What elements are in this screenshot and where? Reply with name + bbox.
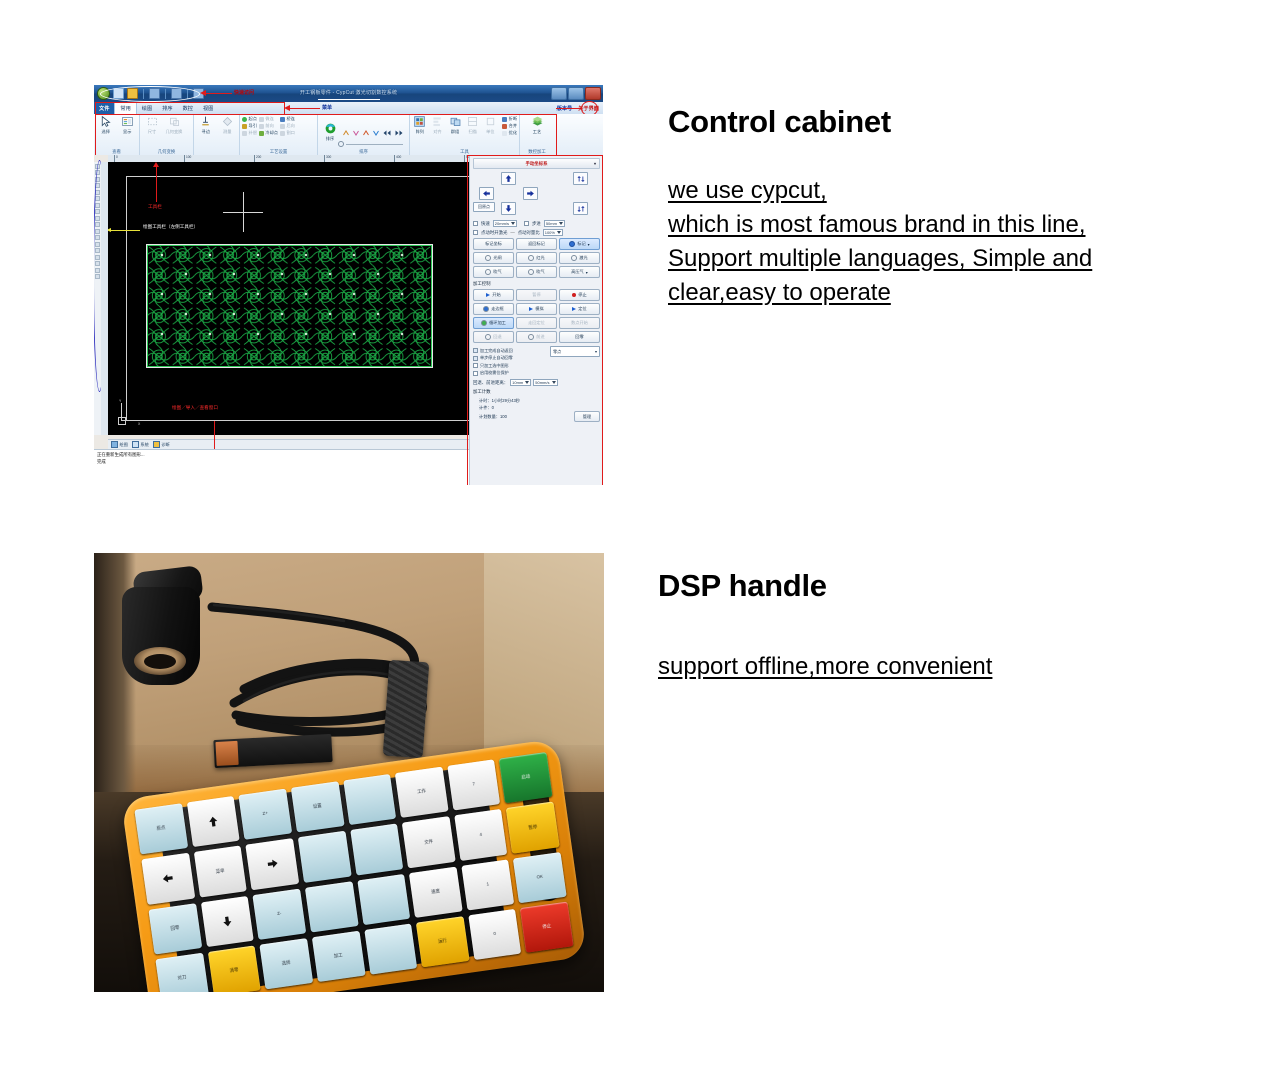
key-jog-left[interactable] — [141, 853, 194, 904]
sort-globe-icon — [324, 122, 337, 135]
retreat-speed-value[interactable]: 50mm/s — [533, 379, 557, 386]
mark-coordinate-button[interactable]: 标记坐标 — [473, 238, 514, 250]
position-button[interactable]: 定位 — [559, 303, 600, 315]
sort-extra-icons[interactable] — [342, 127, 404, 137]
ribbon-small-col-1[interactable]: 起点 导引 补偿 — [242, 115, 257, 136]
tool-node-icon[interactable] — [95, 268, 100, 273]
chevron-down-icon[interactable]: ▾ — [586, 270, 588, 275]
ribbon-button-label: 寻边 — [202, 129, 210, 135]
key-machining[interactable]: 加工 — [312, 931, 365, 982]
stat-value: 1小时29分43秒 — [492, 398, 520, 403]
jog-options-row-2[interactable]: 点动时开激光 — 点动对量比 100% — [473, 229, 600, 236]
sort-asc-icon[interactable] — [342, 129, 350, 137]
key-select[interactable]: 选择 — [260, 938, 313, 989]
key-4[interactable]: 4 — [454, 809, 507, 860]
option-label: 只加工选中图形 — [480, 363, 509, 369]
display-list-icon — [121, 115, 134, 128]
tool-rotate-icon[interactable] — [95, 229, 100, 234]
lace-pattern — [147, 245, 432, 367]
scan-icon — [466, 115, 479, 128]
ruler-tick-label: 0 — [116, 155, 118, 159]
ruler-tick-label: 300 — [326, 155, 331, 159]
dsp-handle-photo: 原点 Z+ 设置 工作 7 启动 菜单 文件 4 暂停 回零 — [94, 553, 604, 992]
annotation-label-toolbar: 工具栏 — [148, 204, 162, 210]
ribbon-small-col-2[interactable]: 微连 前向 冷却点 — [259, 115, 278, 136]
system-icon — [132, 441, 139, 448]
option-auto-return[interactable]: 加工完成自动返回 — [473, 348, 546, 354]
z-axis-up-icon — [576, 174, 586, 184]
tool-mirror-icon[interactable] — [95, 222, 100, 227]
annotation-arrow-quick-access — [206, 93, 232, 94]
axis-label-y: Y — [119, 399, 121, 403]
tool-text-icon[interactable] — [95, 203, 100, 208]
mark-button-grid[interactable]: 标记坐标 返回标记 标记▾ 光闸 红光 激光 吹气 吹气 高压气▾ — [473, 238, 600, 278]
tool-scale-icon[interactable] — [95, 235, 100, 240]
button-label: 定位 — [578, 306, 586, 312]
ribbon-button-startpoint[interactable]: 起点 — [242, 116, 257, 122]
ribbon-small-col-tools[interactable]: 折断 合并 优化 — [500, 115, 517, 136]
title-underline — [318, 99, 380, 100]
blow2-button[interactable]: 吹气 — [516, 266, 557, 278]
chevron-down-icon[interactable]: ▾ — [595, 349, 597, 354]
fast-value[interactable]: 20mm/s — [493, 220, 517, 227]
craft-layers-icon — [531, 115, 544, 128]
ribbon-group-seek[interactable]: 寻边 测量 — [194, 114, 240, 155]
page-title-control-cabinet: Control cabinet — [668, 104, 1268, 140]
body-line: we use cypcut, — [668, 174, 1268, 208]
annotation-arrowhead — [200, 90, 206, 96]
arrow-up-icon — [504, 174, 513, 183]
button-label: 数点开始 — [571, 320, 588, 326]
button-label: 回原点 — [478, 204, 490, 210]
window-title-bar: 开工钢板零件 - CypCut 激光切割数控系统 — [94, 85, 603, 102]
ribbon-button-microjoint[interactable]: 微连 — [259, 116, 278, 122]
manage-button[interactable]: 管理 — [574, 411, 600, 422]
connector-bore — [144, 654, 176, 669]
window-controls[interactable] — [551, 87, 601, 100]
ribbon-button-array[interactable]: 阵列 — [412, 115, 428, 135]
ribbon-tab-draw[interactable]: 绘图 — [137, 102, 157, 114]
step-value[interactable]: 50mm — [544, 220, 565, 227]
axis-label-x: X — [138, 422, 140, 426]
button-label: 标记 — [577, 241, 585, 247]
ribbon-button-scan[interactable]: 扫描 — [465, 115, 481, 135]
tool-fillet-icon[interactable] — [95, 248, 100, 253]
key-clear-zero[interactable]: 清零 — [207, 945, 260, 992]
machining-options-area[interactable]: 加工完成自动返回 单步停止自动回零 只加工选中图形 启用校需位保护 零点 ▾ — [473, 346, 600, 376]
sort-slider[interactable] — [338, 142, 405, 146]
sort-group-icon[interactable] — [362, 129, 370, 137]
z-axis-down-icon — [576, 204, 586, 214]
tool-line-icon[interactable] — [95, 170, 100, 175]
chevron-down-icon[interactable]: ▾ — [588, 242, 590, 247]
ribbon-button-measure[interactable]: 测量 — [218, 115, 238, 135]
pause-button[interactable]: 暂停 — [516, 289, 557, 301]
page-title-dsp-handle: DSP handle — [658, 568, 1258, 604]
ribbon-button-craft[interactable]: 工艺 — [527, 115, 547, 135]
ribbon-group-craft[interactable]: 工艺 数控加工 — [520, 114, 554, 155]
ribbon-tab-home[interactable]: 常用 — [114, 102, 136, 114]
zero-point-select[interactable]: 零点 ▾ — [550, 346, 600, 357]
seek-edge-icon — [199, 115, 212, 128]
tool-pan-icon[interactable] — [95, 261, 100, 266]
ribbon-button-coolpoint[interactable]: 冷却点 — [259, 130, 278, 136]
dimension-icon — [146, 115, 159, 128]
key-z-plus[interactable]: Z+ — [239, 789, 292, 840]
tab-label: 系统 — [140, 442, 148, 448]
jog-up-button[interactable] — [501, 172, 516, 185]
counter-label: 加工计数 — [473, 389, 600, 395]
sort-desc-icon[interactable] — [352, 129, 360, 137]
retreat-distance-row[interactable]: 回退、前进距离： 10mm 50mm/s — [473, 379, 600, 386]
axis-origin-marker: Y X — [118, 403, 144, 425]
key-home[interactable]: 回零 — [148, 903, 201, 954]
measure-icon — [221, 115, 234, 128]
jog-z-up-button[interactable] — [573, 172, 588, 185]
stat-row: 计时：1小时29分43秒 — [473, 398, 600, 405]
control-panel[interactable]: 手动坐标系 ▾ 回原点 — [469, 155, 603, 485]
usb-contact — [215, 741, 238, 766]
annotation-arrowhead — [153, 162, 159, 167]
velcro-strap — [383, 660, 430, 759]
option-selected-only[interactable]: 只加工选中图形 — [473, 363, 546, 369]
key-z-minus[interactable]: Z- — [253, 888, 306, 939]
red-light-button[interactable]: 红光 — [516, 252, 557, 264]
jog-down-button[interactable] — [501, 202, 516, 215]
button-label: 吹气 — [493, 269, 501, 275]
label: 导引 — [249, 123, 257, 129]
key-work[interactable]: 工作 — [395, 767, 448, 818]
maximize-button[interactable] — [568, 87, 584, 100]
key-origin[interactable]: 原点 — [134, 803, 187, 854]
ribbon-button-label: 选择 — [102, 129, 110, 135]
stat-value: 0 — [492, 405, 494, 410]
arrow-left-icon — [482, 189, 491, 198]
key-tool-setting[interactable]: 对刀 — [155, 953, 208, 992]
annotation-label-drawing-area: 绘图／导入／查看窗口 — [172, 405, 218, 411]
loop-machining-button[interactable]: 循环加工 — [473, 317, 514, 329]
stat-label: 计划数量： — [473, 414, 500, 419]
key-menu[interactable]: 菜单 — [193, 846, 246, 897]
arrow-up-icon — [186, 796, 239, 847]
jog-options-row-1[interactable]: 快速 20mm/s 步进 50mm — [473, 220, 600, 227]
ribbon-button-kerf[interactable]: 割口 — [280, 130, 295, 136]
sort-reverse-icon[interactable] — [372, 129, 380, 137]
ribbon-button-transform[interactable]: 几何变换 — [164, 115, 184, 135]
advance-button[interactable]: 前进 — [516, 331, 557, 343]
ribbon-group-label: 几何变换 — [142, 148, 191, 155]
ribbon-button-bridge[interactable]: 桥连 — [280, 116, 295, 122]
key-start[interactable]: 启动 — [499, 752, 552, 803]
ribbon-group-label: 排序 — [320, 148, 407, 155]
label: 割口 — [286, 130, 294, 136]
sort-last-icon[interactable] — [394, 129, 404, 137]
button-label: 开始 — [492, 292, 500, 298]
control-cabinet-screenshot: 开工钢板零件 - CypCut 激光切割数控系统 快速访问 文件 常用 绘图 排… — [94, 85, 603, 485]
ribbon-button-backward[interactable]: 后向 — [280, 123, 295, 129]
tab-system[interactable]: 系统 — [132, 441, 149, 448]
annotation-arrowhead — [284, 105, 290, 111]
key-blank-6[interactable] — [364, 923, 417, 974]
blow-button[interactable]: 吹气 — [473, 266, 514, 278]
button-label: 循环加工 — [489, 320, 506, 326]
key-ok[interactable]: OK — [513, 852, 566, 903]
annotation-arrow-about — [556, 108, 580, 109]
button-label: 光闸 — [493, 255, 501, 261]
tab-label: 诊断 — [161, 442, 169, 448]
ribbon-group-label — [196, 148, 237, 155]
ribbon-button-group[interactable]: 群组 — [447, 115, 463, 135]
ribbon-tab-strip[interactable]: 文件 常用 绘图 排序 数控 视图 版本号 关于界面 — [94, 102, 603, 114]
annotation-text: 绘图工具栏（左侧工具栏） — [143, 224, 198, 229]
pendant-connector — [120, 565, 212, 689]
key-blank-5[interactable] — [357, 873, 410, 924]
about-label: 关于界面 — [578, 105, 599, 112]
ribbon-button-label: 几何变换 — [166, 129, 183, 135]
option-protection[interactable]: 启用校需位保护 — [473, 370, 546, 376]
label: 后向 — [286, 123, 294, 129]
key-blank-3[interactable] — [350, 824, 403, 875]
label: 微连 — [265, 116, 273, 122]
ribbon-group-label: 工具 — [412, 148, 517, 155]
label: 冷却点 — [265, 130, 278, 136]
ribbon-button-compensate[interactable]: 补偿 — [242, 130, 257, 136]
ribbon-button-label: 测量 — [223, 129, 231, 135]
high-pressure-gas-button[interactable]: 高压气▾ — [559, 266, 600, 278]
slide-canvas: 开工钢板零件 - CypCut 激光切割数控系统 快速访问 文件 常用 绘图 排… — [0, 0, 1280, 1077]
stat-label: 计时： — [473, 398, 492, 403]
start-from-point-button[interactable]: 数点开始 — [559, 317, 600, 329]
machining-button-grid[interactable]: 开始 暂停 停止 走边框 模拟 定位 循环加工 走回定位 数点开始 回退 前进 … — [473, 289, 600, 343]
label: 桥连 — [286, 116, 294, 122]
body-line: which is most famous brand in this line, — [668, 208, 1268, 242]
step-label: 步进 — [532, 221, 541, 227]
ribbon-button-dimension[interactable]: 尺寸 — [142, 115, 162, 135]
ruler-tick-label: 200 — [256, 155, 261, 159]
ribbon-button-label: 排序 — [326, 136, 334, 142]
ribbon-group-geometry[interactable]: 尺寸 几何变换 几何变换 — [140, 114, 194, 155]
arrow-right-icon — [246, 838, 299, 889]
ribbon-button-label: 群组 — [451, 129, 459, 135]
ribbon-button-seek-edge[interactable]: 寻边 — [196, 115, 216, 135]
jog-power-value[interactable]: 100% — [543, 229, 563, 236]
key-jog-up[interactable] — [186, 796, 239, 847]
tool-zoom-icon[interactable] — [95, 255, 100, 260]
ribbon-button-align[interactable]: 对齐 — [430, 115, 446, 135]
annotation-label-quick-access: 快速访问 — [234, 89, 254, 96]
retreat-button[interactable]: 回退 — [473, 331, 514, 343]
tool-select-icon[interactable] — [95, 164, 100, 169]
ribbon-button-select[interactable]: 选择 — [96, 115, 116, 135]
ribbon-group-label: 查看 — [96, 148, 137, 155]
tool-circle-icon[interactable] — [95, 183, 100, 188]
draw-toolbar[interactable] — [94, 162, 101, 435]
imported-part-geometry[interactable] — [146, 244, 433, 368]
close-button[interactable] — [585, 87, 601, 100]
mark-dropdown-button[interactable]: 标记▾ — [559, 238, 600, 250]
transform-icon — [168, 115, 181, 128]
sort-first-icon[interactable] — [382, 129, 392, 137]
key-file[interactable]: 文件 — [402, 816, 455, 867]
step-checkbox[interactable] — [524, 221, 529, 226]
ribbon-tab-cnc[interactable]: 数控 — [178, 102, 198, 114]
annotation-label-menu: 菜单 — [322, 104, 332, 111]
button-label: 红光 — [536, 255, 544, 261]
jog-z-down-button[interactable] — [573, 202, 588, 215]
fast-checkbox[interactable] — [473, 221, 478, 226]
key-pause[interactable]: 暂停 — [506, 802, 559, 853]
jog-right-button[interactable] — [523, 187, 538, 200]
option-label: 单步停止自动回零 — [480, 355, 513, 361]
retreat-label: 回退、前进距离： — [473, 380, 508, 386]
ribbon-button-lead[interactable]: 导引 — [242, 123, 257, 129]
laser-on-jog-checkbox[interactable] — [473, 230, 478, 235]
label: 前向 — [265, 123, 273, 129]
jog-pad[interactable]: 回原点 — [473, 172, 600, 218]
tool-delete-icon[interactable] — [95, 274, 100, 279]
annotation-ellipse-quick-access — [100, 86, 200, 102]
ribbon-group-label: 数控加工 — [522, 148, 552, 155]
body-line: clear,easy to operate — [668, 276, 1268, 310]
ribbon-button-label: 阵列 — [416, 129, 424, 135]
ribbon-button-optimize[interactable]: 优化 — [502, 130, 517, 136]
ribbon-button-break[interactable]: 折断 — [502, 116, 517, 122]
key-7[interactable]: 7 — [447, 759, 500, 810]
return-mark-button[interactable]: 返回标记 — [516, 238, 557, 250]
annotation-arrow-toolbar — [156, 164, 157, 202]
ribbon-group-view[interactable]: 选择 显示 查看 — [94, 114, 140, 155]
coordinate-system-title[interactable]: 手动坐标系 ▾ — [473, 158, 600, 169]
tool-rect-icon[interactable] — [95, 196, 100, 201]
ribbon-button-label: 尺寸 — [148, 129, 156, 135]
goto-position-button[interactable]: 走回定位 — [516, 317, 557, 329]
ribbon-button-label: 显示 — [123, 129, 131, 135]
ribbon-button-label: 工艺 — [533, 129, 541, 135]
tab-diagnose[interactable]: 诊断 — [153, 441, 170, 448]
select-value: 零点 — [553, 349, 561, 355]
button-label: 返回标记 — [528, 241, 545, 247]
start-button[interactable]: 开始 — [473, 289, 514, 301]
tool-point-icon[interactable] — [95, 209, 100, 214]
frame-button[interactable]: 走边框 — [473, 303, 514, 315]
ribbon-group-label: 工艺设置 — [242, 148, 315, 155]
diagnose-icon — [153, 441, 160, 448]
cursor-arrow-icon — [99, 115, 112, 128]
key-1[interactable]: 1 — [461, 859, 514, 910]
ribbon-button-label: 对齐 — [433, 129, 441, 135]
arrow-right-icon — [526, 189, 535, 198]
option-step-stop[interactable]: 单步停止自动回零 — [473, 355, 546, 361]
ribbon-button-label: 扫描 — [468, 129, 476, 135]
key-run[interactable]: 运行 — [416, 916, 469, 967]
button-label: 回零 — [575, 334, 583, 340]
button-label: 走回定位 — [528, 320, 545, 326]
ribbon-content[interactable]: 选择 显示 查看 — [94, 114, 603, 155]
key-blank-1[interactable] — [343, 774, 396, 825]
tab-draw[interactable]: 绘图 — [111, 441, 128, 448]
stat-value: 100 — [500, 414, 507, 419]
option-label: 加工完成自动返回 — [480, 348, 513, 354]
stat-label: 计件： — [473, 405, 492, 410]
annotation-arrow-draw-toolbar — [110, 230, 140, 231]
ribbon-button-unit[interactable]: 单位 — [483, 115, 499, 135]
group-icon — [449, 115, 462, 128]
tool-trim-icon[interactable] — [95, 242, 100, 247]
annotation-arrowhead — [108, 228, 111, 232]
tool-offset-icon[interactable] — [95, 216, 100, 221]
ribbon-tab-view[interactable]: 视图 — [198, 102, 218, 114]
key-blank-4[interactable] — [305, 881, 358, 932]
laser-button[interactable]: 激光 — [559, 252, 600, 264]
title-text: 手动坐标系 — [526, 161, 548, 167]
button-label: 暂停 — [532, 292, 540, 298]
ribbon-button-merge[interactable]: 合并 — [502, 123, 517, 129]
tool-polyline-icon[interactable] — [95, 177, 100, 182]
ribbon-small-col-3[interactable]: 桥连 后向 割口 — [280, 115, 295, 136]
shutter-button[interactable]: 光闸 — [473, 252, 514, 264]
tool-arc-icon[interactable] — [95, 190, 100, 195]
key-stop[interactable]: 停止 — [520, 901, 573, 952]
button-label: 激光 — [579, 255, 587, 261]
button-label: 高压气 — [571, 269, 584, 275]
ribbon-group-tools[interactable]: 阵列 对齐 — [410, 114, 520, 155]
annotation-arrow-menu — [290, 108, 320, 109]
stat-row-with-button: 计划数量：100 管理 — [473, 411, 600, 422]
button-label: 前进 — [536, 334, 544, 340]
ribbon-button-forward[interactable]: 前向 — [259, 123, 278, 129]
ribbon-group-process[interactable]: 起点 导引 补偿 微连 前向 冷却点 桥连 后向 割口 工艺设置 — [240, 114, 318, 155]
ruler-tick-label: 100 — [186, 155, 191, 159]
jog-power-label: 点动对量比 — [518, 230, 540, 236]
key-0[interactable]: 0 — [468, 909, 521, 960]
chevron-down-icon[interactable]: ▾ — [594, 161, 596, 166]
button-label: 模拟 — [535, 306, 543, 312]
ribbon-tab-file[interactable]: 文件 — [94, 102, 114, 114]
ribbon-tab-sort[interactable]: 排序 — [157, 102, 177, 114]
minimize-button[interactable] — [551, 87, 567, 100]
arrow-left-icon — [141, 853, 194, 904]
window-document-title: 开工钢板零件 - CypCut 激光切割数控系统 — [300, 89, 397, 96]
ribbon-group-sort[interactable]: 排序 排序 — [318, 114, 410, 155]
button-label: 标记坐标 — [485, 241, 502, 247]
button-label: 回退 — [493, 334, 501, 340]
arrow-down-icon — [200, 895, 253, 946]
crosshair-vertical — [243, 192, 244, 232]
key-setting[interactable]: 设置 — [291, 781, 344, 832]
go-home-button[interactable]: 回零 — [559, 331, 600, 343]
ribbon-button-display[interactable]: 显示 — [118, 115, 138, 135]
control-cabinet-text-column: Control cabinet we use cypcut, which is … — [668, 104, 1268, 310]
return-origin-button[interactable]: 回原点 — [473, 202, 495, 212]
simulate-button[interactable]: 模拟 — [516, 303, 557, 315]
tab-label: 绘图 — [120, 442, 128, 448]
key-blank-2[interactable] — [298, 831, 351, 882]
key-jog-right[interactable] — [246, 838, 299, 889]
unit-icon — [484, 115, 497, 128]
key-jog-down[interactable] — [200, 895, 253, 946]
key-speed[interactable]: 速度 — [409, 866, 462, 917]
ribbon-button-label: 单位 — [486, 129, 494, 135]
label: 起点 — [249, 116, 257, 122]
stop-button[interactable]: 停止 — [559, 289, 600, 301]
dsp-handle-text-column: DSP handle support offline,more convenie… — [658, 568, 1258, 684]
array-icon — [413, 115, 426, 128]
ribbon-button-sort[interactable]: 排序 — [320, 122, 340, 142]
button-label: 停止 — [578, 292, 586, 298]
jog-left-button[interactable] — [479, 187, 494, 200]
retreat-distance-value[interactable]: 10mm — [510, 379, 531, 386]
stat-row: 计件：0 — [473, 405, 600, 412]
